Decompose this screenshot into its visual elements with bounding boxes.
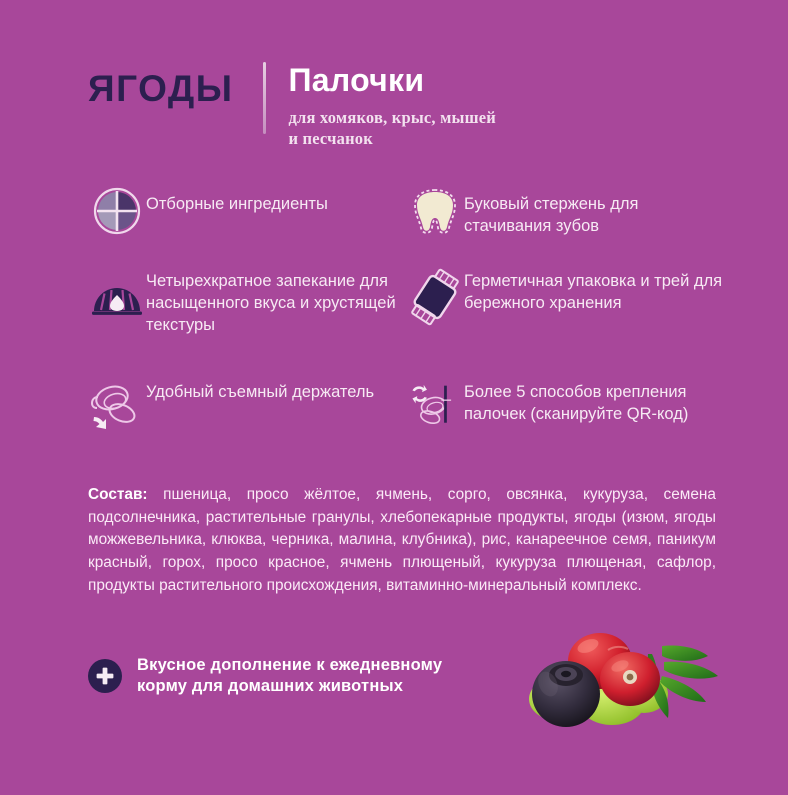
header-divider	[263, 62, 266, 134]
feature-row: Отборные ингредиенты Буковый стержень дл…	[88, 182, 728, 268]
product-title: Палочки	[288, 64, 496, 98]
product-subtitle-line2: и песчанок	[288, 128, 496, 149]
title-group: Палочки для хомяков, крыс, мышей и песча…	[288, 62, 496, 149]
feature-item-beech-stick: Буковый стержень для стачивания зубов	[406, 182, 728, 268]
composition-text: Состав: пшеница, просо жёлтое, ячмень, с…	[88, 484, 716, 597]
berries-image	[512, 628, 730, 746]
footer-line-2: корму для домашних животных	[137, 676, 442, 697]
oven-icon	[88, 268, 146, 326]
feature-list: Отборные ингредиенты Буковый стержень дл…	[88, 182, 728, 456]
feature-item-baking: Четырехкратное запекание для насыщенного…	[88, 268, 406, 376]
header: ЯГОДЫ Палочки для хомяков, крыс, мышей и…	[88, 62, 496, 149]
sealed-package-icon	[406, 268, 464, 326]
feature-label: Четырехкратное запекание для насыщенного…	[146, 268, 406, 337]
feature-item-mounting: Более 5 способов крепления палочек (скан…	[406, 376, 728, 456]
footer-text: Вкусное дополнение к ежедневному корму д…	[137, 655, 442, 698]
composition-body: пшеница, просо жёлтое, ячмень, сорго, ов…	[88, 486, 716, 594]
tooth-icon	[406, 182, 464, 240]
package-label-panel: ЯГОДЫ Палочки для хомяков, крыс, мышей и…	[0, 0, 788, 795]
feature-row: Удобный съемный держатель Более 5 способ…	[88, 376, 728, 456]
brand-title: ЯГОДЫ	[88, 62, 233, 107]
feature-row: Четырехкратное запекание для насыщенного…	[88, 268, 728, 376]
footer-line-1: Вкусное дополнение к ежедневному	[137, 655, 442, 676]
clip-holder-icon	[88, 376, 146, 434]
feature-item-packaging: Герметичная упаковка и трей для бережног…	[406, 268, 728, 376]
feature-label: Герметичная упаковка и трей для бережног…	[464, 268, 728, 315]
plus-icon	[88, 659, 122, 693]
feature-item-holder: Удобный съемный держатель	[88, 376, 406, 456]
footer-callout: Вкусное дополнение к ежедневному корму д…	[88, 655, 442, 698]
feature-label: Буковый стержень для стачивания зубов	[464, 182, 728, 238]
feature-label: Более 5 способов крепления палочек (скан…	[464, 376, 728, 426]
product-subtitle: для хомяков, крыс, мышей и песчанок	[288, 107, 496, 150]
feature-item-ingredients: Отборные ингредиенты	[88, 182, 406, 268]
feature-label: Удобный съемный держатель	[146, 376, 374, 404]
composition-label: Состав:	[88, 486, 148, 503]
product-subtitle-line1: для хомяков, крыс, мышей	[288, 107, 496, 128]
refresh-clip-icon	[406, 376, 464, 434]
quadrant-circle-icon	[88, 182, 146, 240]
feature-label: Отборные ингредиенты	[146, 182, 328, 216]
